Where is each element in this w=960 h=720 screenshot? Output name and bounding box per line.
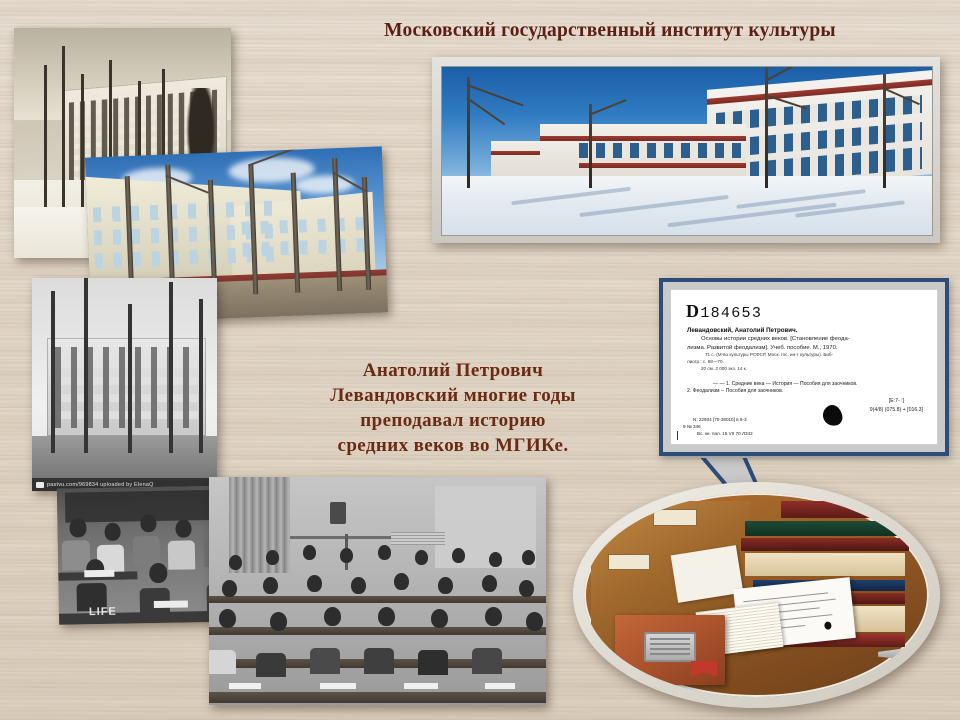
library-catalog-oval-photo xyxy=(573,482,940,708)
card-footer: N: 22934 [70-38010] в 6-3 9 № 346 Вс. кн… xyxy=(683,416,753,437)
card-author: Левандовский, Анатолий Петрович. xyxy=(687,327,926,334)
photo-wall-panel xyxy=(435,486,536,568)
catalog-drawer-front xyxy=(615,615,725,684)
card-classification-top: [Е:7- :] xyxy=(870,397,923,405)
catalog-card-callout: D184653 Левандовский, Анатолий Петрович.… xyxy=(659,278,949,456)
photo-building xyxy=(47,338,206,436)
drawer-pull-handle xyxy=(644,632,696,662)
card-shelf-number: 184653 xyxy=(700,305,762,322)
card-collation-line-1: 71 с. (М-во культуры РСФСР. Моск. гос. и… xyxy=(687,352,926,359)
card-title-line-2: лизма. Развитой феодализм]. Учеб. пособи… xyxy=(687,344,926,353)
caption-line-1: Анатолий Петрович xyxy=(258,358,648,383)
ink-blot xyxy=(824,621,832,630)
card-collation-line-2: лиогр.: с. 68—70. xyxy=(687,359,926,366)
camera-icon xyxy=(36,482,44,488)
library-catalog-card: D184653 Левандовский, Анатолий Петрович.… xyxy=(670,289,938,445)
card-shelf-letter: D xyxy=(686,301,700,321)
card-subject-1: — — 1. Средние века — История — Пособия … xyxy=(687,381,926,388)
card-tick-mark xyxy=(677,431,678,440)
card-collation-line-3: 20 см. 2 000 экз. 14 к. xyxy=(687,366,926,373)
card-footer-line-3: Вс. кн. пал. 15 VII 70 Л342 xyxy=(697,430,753,437)
lecture-hall-photo xyxy=(209,477,546,705)
caption-line-2: Левандовский многие годы xyxy=(258,383,648,408)
projector-icon xyxy=(330,502,346,524)
presentation-slide: pastvu.com/969834 uploaded by ElenaQ LIF… xyxy=(0,0,960,720)
caption-text: Анатолий Петрович Левандовский многие го… xyxy=(258,358,648,458)
card-shelf-code: D184653 xyxy=(686,301,926,322)
card-classification: [Е:7- :] 9(4/8) (075.8) + [016.3] xyxy=(870,397,923,414)
card-classification-main: 9(4/8) (075.8) + [016.3] xyxy=(870,406,923,414)
ink-blot xyxy=(821,403,845,428)
card-subject-2: 2. Феодализм -- Пособия для заочников. xyxy=(687,388,926,395)
bw-institute-trees-photo: pastvu.com/969834 uploaded by ElenaQ xyxy=(32,278,217,491)
life-magazine-overlay: LIFE xyxy=(89,606,117,618)
card-footer-line-2: 9 № 346 xyxy=(683,423,753,430)
panorama-institute-photo xyxy=(432,57,940,243)
caption-line-4: средних веков во МГИКе. xyxy=(258,433,648,458)
card-footer-line-1: N: 22934 [70-38010] в 6-3 xyxy=(693,416,753,423)
card-title-line-1: Основы истории средних веков. [Становлен… xyxy=(687,335,926,344)
caption-line-3: преподавал историю xyxy=(258,408,648,433)
page-title: Московский государственный институт куль… xyxy=(300,20,920,42)
